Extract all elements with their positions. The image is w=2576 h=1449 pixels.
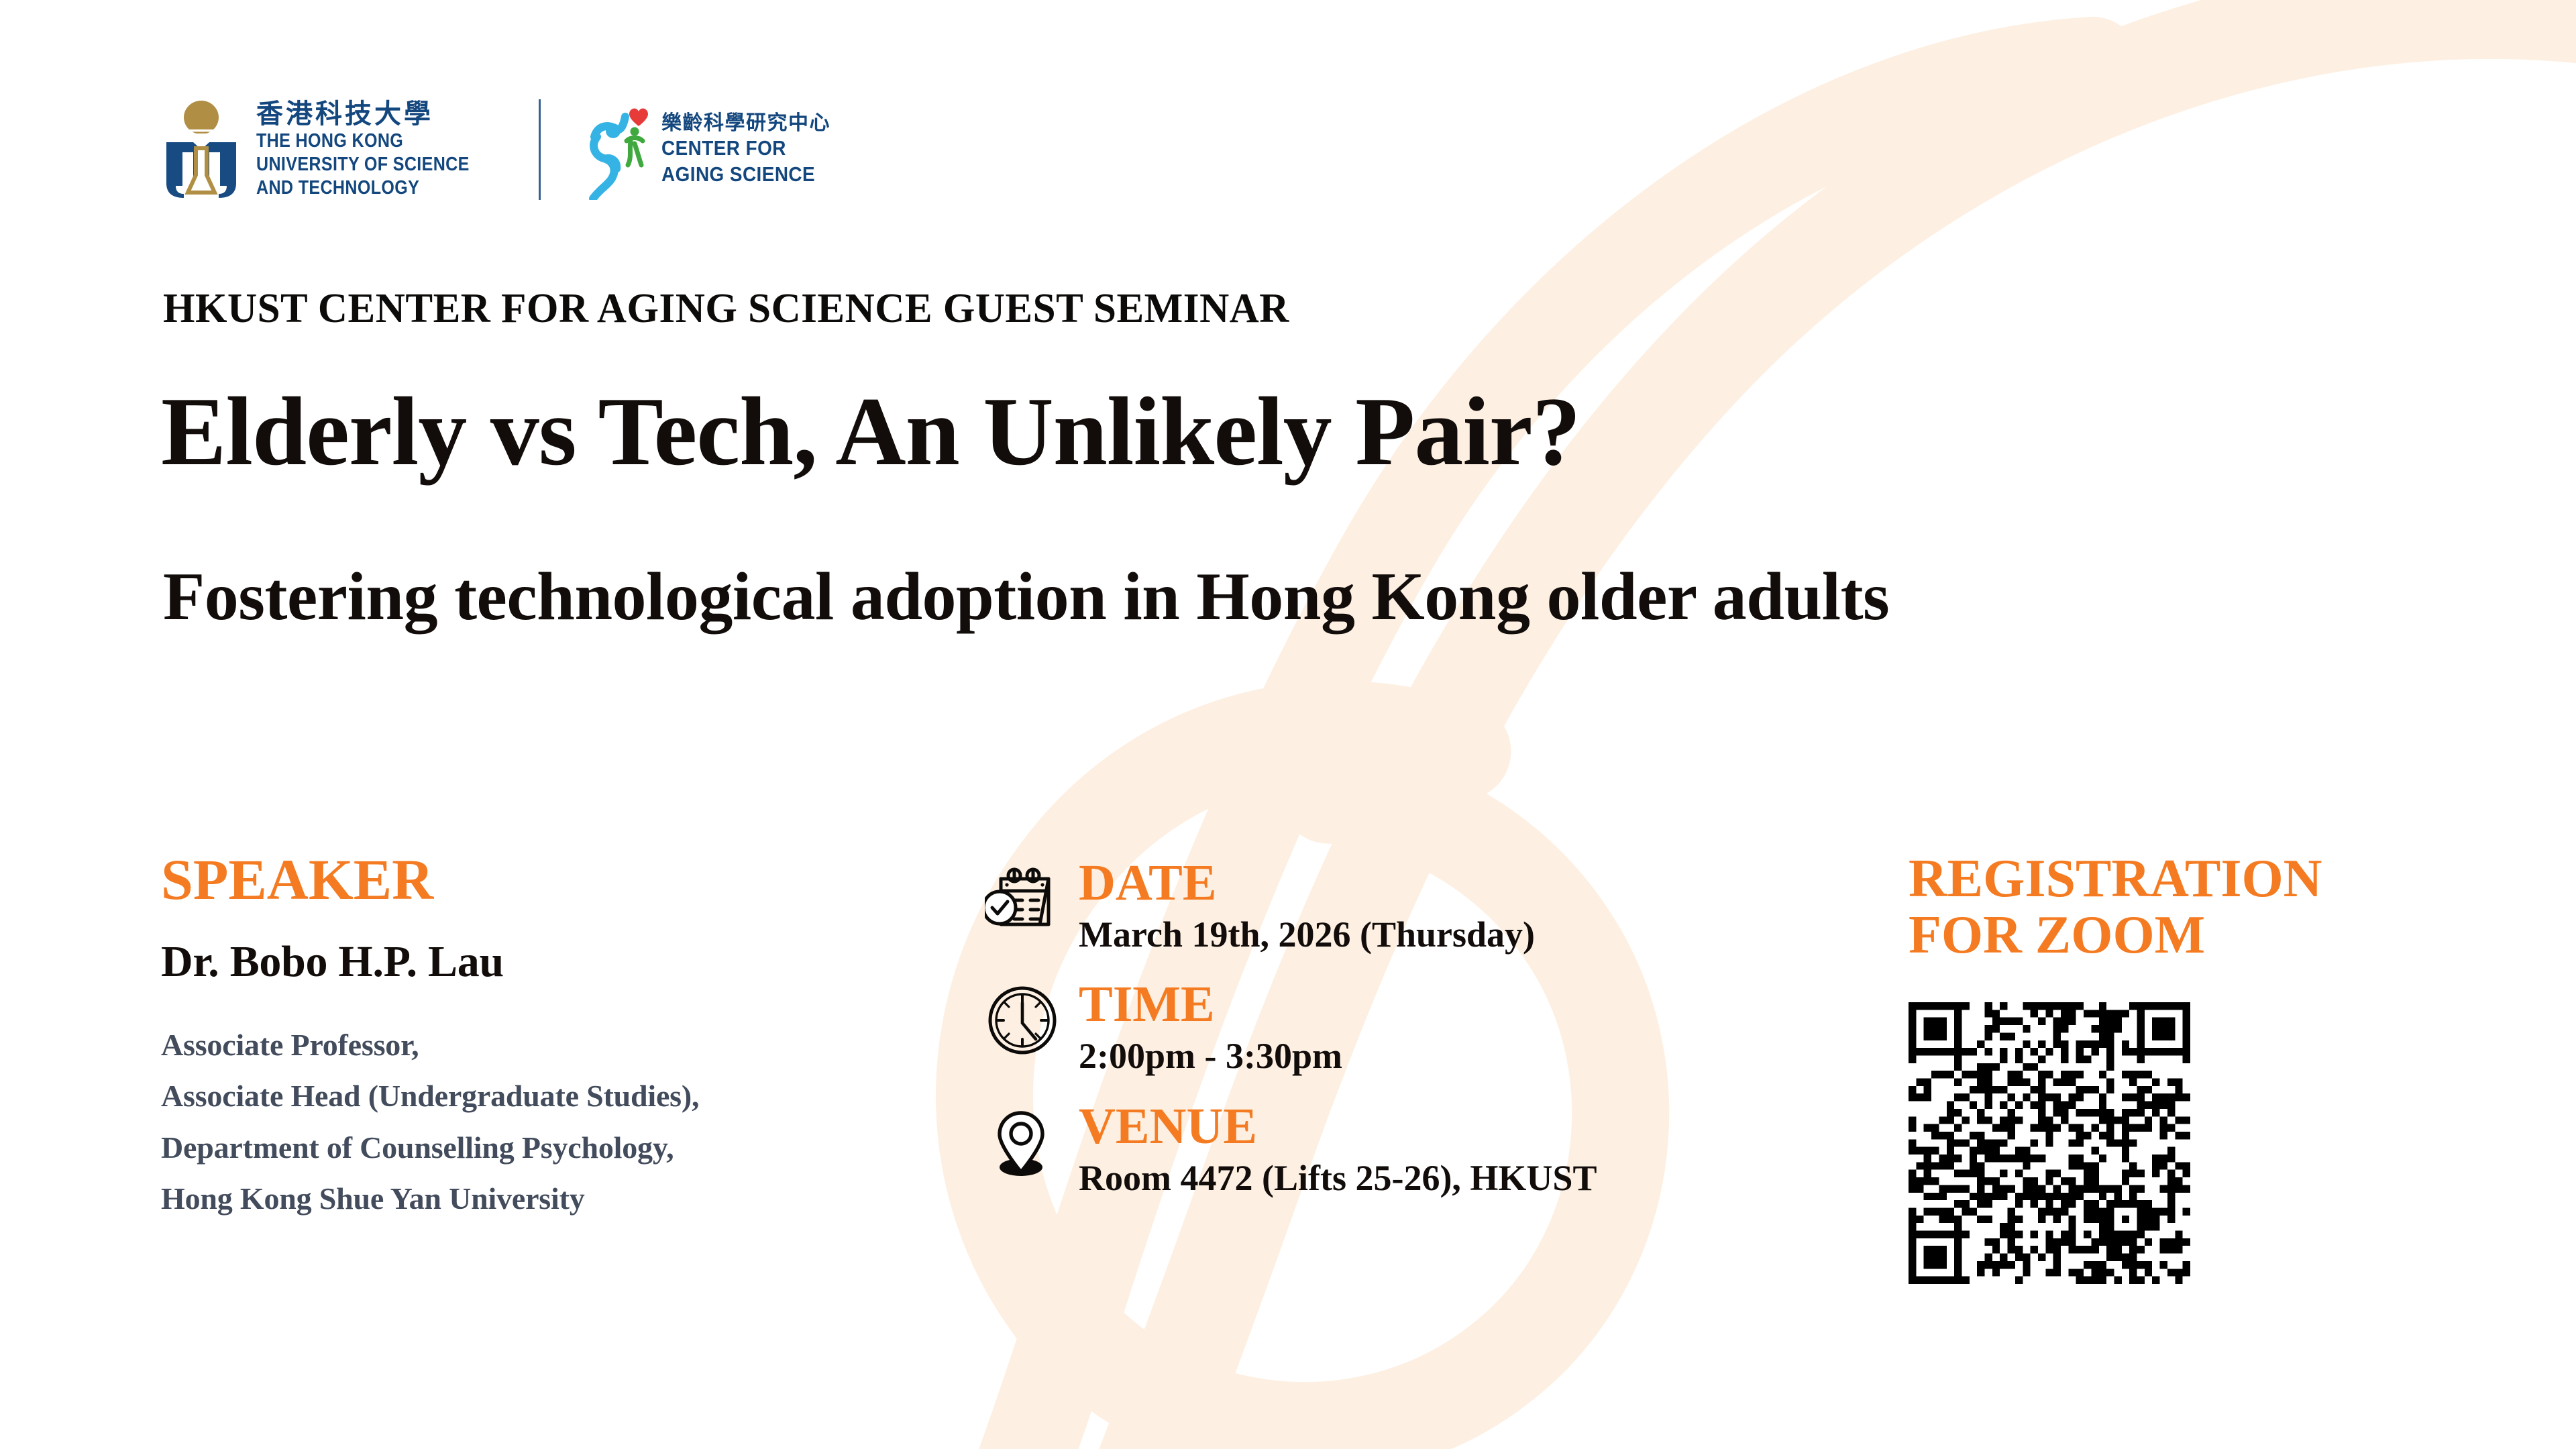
- calendar-check-icon: [985, 857, 1060, 931]
- speaker-affiliation: Associate Professor, Associate Head (Und…: [161, 1020, 953, 1224]
- cas-name-line-1: CENTER FOR: [661, 136, 815, 162]
- hkust-name-line-1: THE HONG KONG: [256, 129, 470, 153]
- page-title: Elderly vs Tech, An Unlikely Pair?: [161, 382, 1580, 480]
- time-value: 2:00pm - 3:30pm: [1079, 1036, 1342, 1076]
- logo-row: 香港科技大學 THE HONG KONG UNIVERSITY OF SCIEN…: [161, 99, 833, 200]
- cas-name-chinese: 樂齡科學研究中心: [661, 111, 833, 136]
- time-label: TIME: [1079, 979, 1342, 1030]
- detail-body: TIME 2:00pm - 3:30pm: [1079, 979, 1342, 1076]
- speaker-affiliation-line: Associate Professor,: [161, 1020, 953, 1071]
- cas-name-line-2: AGING SCIENCE: [661, 162, 815, 188]
- speaker-section: SPEAKER Dr. Bobo H.P. Lau Associate Prof…: [161, 851, 953, 1224]
- zoom-registration-qr-code[interactable]: [1909, 1002, 2190, 1284]
- speaker-label: SPEAKER: [161, 851, 953, 908]
- registration-title-line-1: REGISTRATION: [1909, 851, 2485, 907]
- logo-divider: [539, 99, 541, 200]
- hkust-logo-text: 香港科技大學 THE HONG KONG UNIVERSITY OF SCIEN…: [256, 99, 498, 200]
- date-value: March 19th, 2026 (Thursday): [1079, 915, 1535, 955]
- hkust-name-line-3: AND TECHNOLOGY: [256, 176, 470, 200]
- qr-code-image[interactable]: [1909, 1002, 2190, 1284]
- speaker-affiliation-line: Associate Head (Undergraduate Studies),: [161, 1071, 953, 1122]
- detail-body: DATE March 19th, 2026 (Thursday): [1079, 857, 1535, 955]
- event-details-section: DATE March 19th, 2026 (Thursday) TIME: [985, 857, 1870, 1222]
- hkust-name-line-2: UNIVERSITY OF SCIENCE: [256, 153, 470, 176]
- aging-science-logo: 樂齡科學研究中心 CENTER FOR AGING SCIENCE: [581, 99, 833, 200]
- clock-icon: [985, 979, 1060, 1058]
- detail-venue: VENUE Room 4472 (Lifts 25-26), HKUST: [985, 1101, 1870, 1198]
- date-label: DATE: [1079, 857, 1535, 908]
- hkust-logo: 香港科技大學 THE HONG KONG UNIVERSITY OF SCIEN…: [161, 99, 498, 200]
- seminar-poster: 香港科技大學 THE HONG KONG UNIVERSITY OF SCIEN…: [0, 0, 2576, 1449]
- venue-value: Room 4472 (Lifts 25-26), HKUST: [1079, 1159, 1597, 1198]
- detail-time: TIME 2:00pm - 3:30pm: [985, 979, 1870, 1076]
- registration-title-line-2: FOR ZOOM: [1909, 907, 2485, 963]
- seminar-eyebrow: HKUST CENTER FOR AGING SCIENCE GUEST SEM…: [163, 285, 1289, 333]
- detail-body: VENUE Room 4472 (Lifts 25-26), HKUST: [1079, 1101, 1597, 1198]
- speaker-name: Dr. Bobo H.P. Lau: [161, 936, 953, 987]
- detail-date: DATE March 19th, 2026 (Thursday): [985, 857, 1870, 955]
- speaker-affiliation-line: Hong Kong Shue Yan University: [161, 1173, 953, 1224]
- location-pin-icon: [985, 1101, 1060, 1180]
- speaker-affiliation-line: Department of Counselling Psychology,: [161, 1122, 953, 1173]
- aging-science-emblem-icon: [581, 99, 651, 200]
- aging-science-logo-text: 樂齡科學研究中心 CENTER FOR AGING SCIENCE: [661, 111, 833, 188]
- registration-section: REGISTRATION FOR ZOOM: [1909, 851, 2485, 1284]
- venue-label: VENUE: [1079, 1101, 1597, 1152]
- hkust-name-chinese: 香港科技大學: [256, 99, 498, 129]
- page-subtitle: Fostering technological adoption in Hong…: [163, 560, 2377, 633]
- hkust-emblem-icon: [161, 100, 241, 199]
